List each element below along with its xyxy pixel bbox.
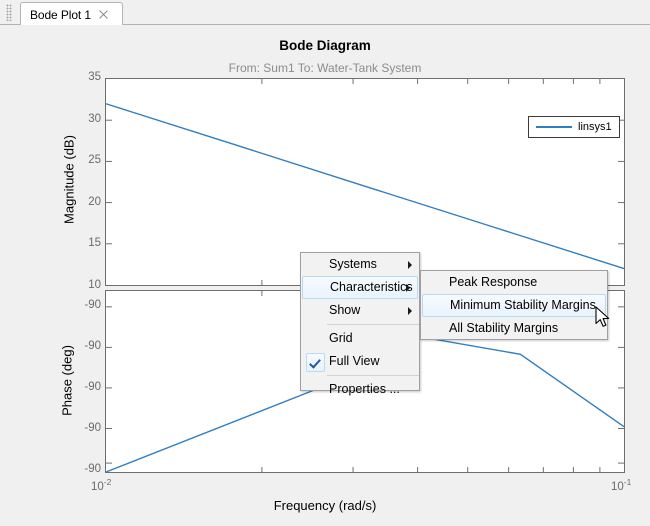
figure-canvas[interactable]: Bode Diagram From: Sum1 To: Water-Tank S… (0, 25, 650, 526)
submenu-arrow-icon (408, 261, 412, 269)
menu-item-label: Systems (329, 258, 377, 271)
magnitude-ytick-3: 20 (88, 196, 101, 208)
menu-item-label: Minimum Stability Margins (450, 299, 596, 312)
submenu-arrow-icon (406, 284, 410, 292)
check-icon (306, 353, 325, 372)
menu-separator (327, 375, 419, 376)
legend[interactable]: linsys1 (528, 116, 620, 138)
characteristics-submenu[interactable]: Peak ResponseMinimum Stability MarginsAl… (420, 270, 608, 340)
legend-line-icon (536, 126, 572, 128)
phase-ytick-0: -90 (84, 299, 101, 311)
submenu-item-all-stability-margins[interactable]: All Stability Margins (421, 317, 607, 340)
menu-item-systems[interactable]: Systems (301, 253, 419, 276)
magnitude-ytick-1: 30 (88, 113, 101, 125)
menu-item-label: Grid (329, 332, 353, 345)
menu-item-show[interactable]: Show (301, 299, 419, 322)
menu-item-label: Peak Response (449, 276, 537, 289)
bode-plot-window: Bode Plot 1 Bode Diagram From: Sum1 To: … (0, 0, 650, 526)
magnitude-axis-title: Magnitude (dB) (62, 90, 77, 270)
phase-axis-title: Phase (deg) (60, 301, 75, 461)
submenu-arrow-icon (408, 307, 412, 315)
menu-item-label: Properties ... (329, 383, 400, 396)
menu-item-grid[interactable]: Grid (301, 327, 419, 350)
menu-separator (327, 324, 419, 325)
context-menu[interactable]: SystemsCharacteristicsShowGridFull ViewP… (300, 252, 420, 391)
phase-ytick-labels: -90-90-90-90-90 (75, 290, 101, 473)
submenu-item-peak-response[interactable]: Peak Response (421, 271, 607, 294)
menu-item-full-view[interactable]: Full View (301, 350, 419, 373)
close-icon[interactable] (98, 9, 109, 20)
xtick-label-left: 10-2 (91, 477, 111, 493)
phase-ytick-4: -90 (84, 463, 101, 475)
phase-ytick-1: -90 (84, 340, 101, 352)
magnitude-ytick-2: 25 (88, 154, 101, 166)
menu-item-properties[interactable]: Properties ... (301, 378, 419, 401)
mouse-pointer-icon (595, 306, 612, 330)
figure-title: Bode Diagram (0, 38, 650, 53)
menu-item-label: Characteristics (330, 281, 413, 294)
drag-grip-icon[interactable] (6, 4, 12, 21)
menu-item-label: Show (329, 304, 360, 317)
submenu-item-minimum-stability-margins[interactable]: Minimum Stability Margins (422, 294, 606, 317)
menu-item-label: Full View (329, 355, 379, 368)
legend-entry-label: linsys1 (578, 121, 612, 133)
tab-bode-plot-1[interactable]: Bode Plot 1 (20, 2, 123, 26)
magnitude-ytick-0: 35 (88, 71, 101, 83)
menu-item-characteristics[interactable]: Characteristics (302, 276, 418, 299)
tab-label: Bode Plot 1 (30, 8, 91, 22)
tab-strip: Bode Plot 1 (0, 0, 650, 25)
magnitude-ytick-labels: 353025201510 (75, 78, 101, 286)
magnitude-yticks (106, 120, 624, 244)
frequency-axis-title: Frequency (rad/s) (0, 498, 650, 513)
menu-item-label: All Stability Margins (449, 322, 558, 335)
phase-ytick-2: -90 (84, 381, 101, 393)
phase-ytick-3: -90 (84, 422, 101, 434)
magnitude-ytick-4: 15 (88, 237, 101, 249)
xtick-label-right: 10-1 (611, 477, 631, 493)
